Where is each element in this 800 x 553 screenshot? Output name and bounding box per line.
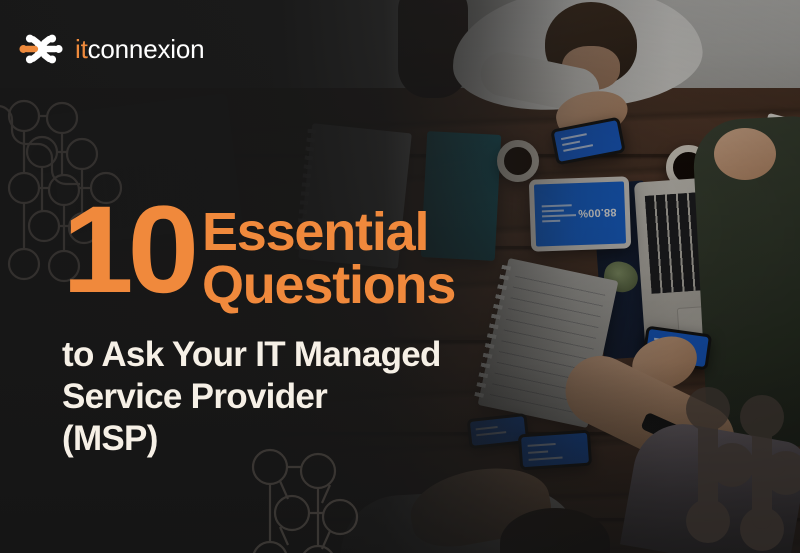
headline-block: 10 Essential Questions to Ask Your IT Ma…	[62, 196, 602, 460]
brand-logo-text-it: it	[75, 34, 88, 64]
marketing-banner: 88.00%	[0, 0, 800, 553]
subheadline-line-2: Service Provider	[62, 376, 602, 418]
subheadline-line-1: to Ask Your IT Managed	[62, 334, 602, 376]
connexion-node-mark-icon	[18, 26, 64, 72]
headline-line-2: Questions	[202, 259, 455, 312]
headline-row: 10 Essential Questions	[62, 196, 602, 312]
headline-words: Essential Questions	[202, 196, 455, 312]
brand-logo-text: itconnexion	[75, 36, 204, 62]
brand-logo[interactable]: itconnexion	[18, 26, 204, 72]
brand-logo-text-connexion: connexion	[88, 34, 205, 64]
subheadline-line-3: (MSP)	[62, 418, 602, 460]
headline-number: 10	[62, 196, 193, 305]
subheadline: to Ask Your IT Managed Service Provider …	[62, 334, 602, 460]
headline-line-1: Essential	[202, 206, 455, 259]
